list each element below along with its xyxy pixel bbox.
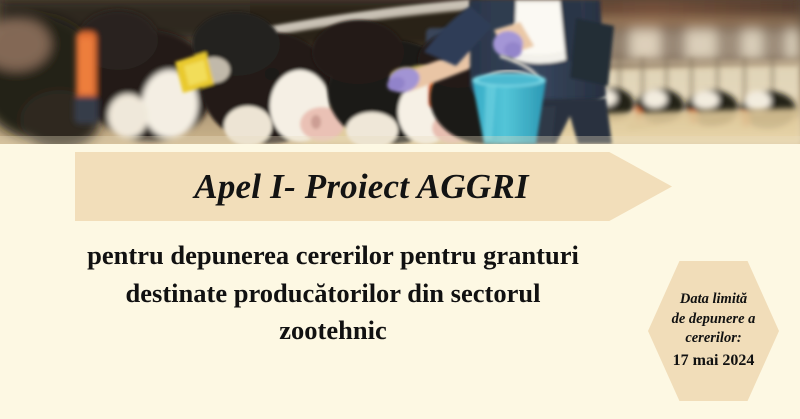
subtitle-line-1: pentru depunerea cererilor pentru grantu…: [32, 237, 634, 275]
subtitle-block: pentru depunerea cererilor pentru grantu…: [32, 237, 634, 350]
deadline-badge: Data limită de depunere a cererilor: 17 …: [648, 261, 779, 401]
poster-canvas: Apel I- Proiect AGGRI pentru depunerea c…: [0, 0, 800, 419]
deadline-label-line-3: cererilor:: [685, 329, 741, 348]
subtitle-line-2: destinate producătorilor din sectorul: [32, 275, 634, 313]
subtitle-line-3: zootehnic: [32, 312, 634, 350]
deadline-date: 17 mai 2024: [673, 350, 755, 371]
deadline-label-line-1: Data limită: [680, 290, 747, 309]
barn-photo-illustration: [0, 0, 800, 144]
deadline-label-line-2: de depunere a: [672, 310, 756, 329]
deadline-text-block: Data limită de depunere a cererilor: 17 …: [648, 261, 779, 401]
page-title: Apel I- Proiect AGGRI: [75, 152, 634, 221]
title-banner: Apel I- Proiect AGGRI: [75, 152, 672, 221]
header-photo: [0, 0, 800, 144]
